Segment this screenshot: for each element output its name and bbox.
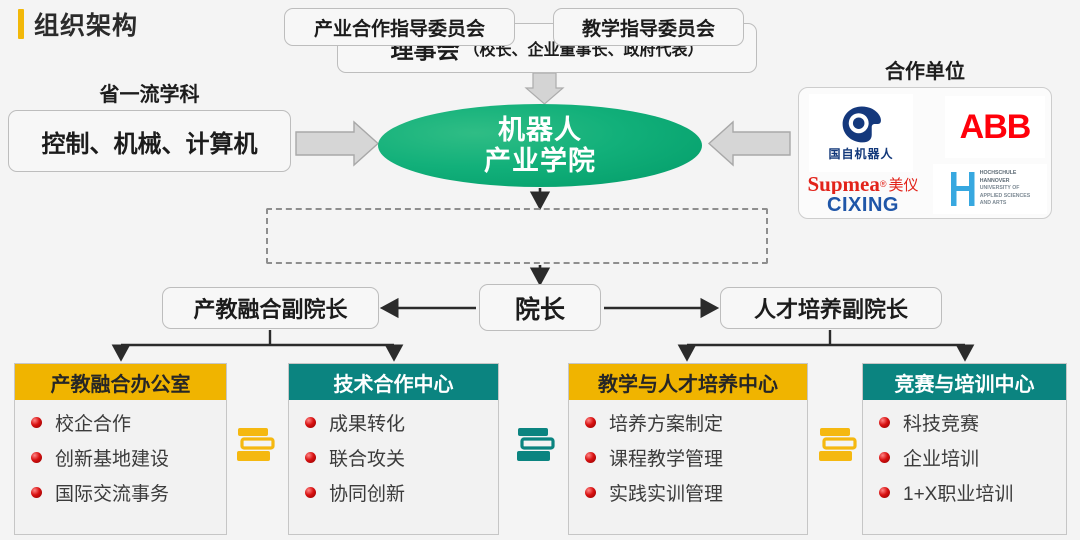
dean-box[interactable]: 院长 bbox=[479, 284, 601, 331]
committee-1-label: 产业合作指导委员会 bbox=[314, 14, 485, 41]
hub-line-2: 产业学院 bbox=[484, 146, 596, 176]
guozi-robot-logo-text: 国自机器人 bbox=[828, 145, 893, 162]
card-teaching-talent-center[interactable]: 教学与人才培养中心 培养方案制定 课程教学管理 实践实训管理 bbox=[568, 363, 808, 535]
bullet-icon bbox=[585, 487, 596, 498]
card-1-list: 校企合作 创新基地建设 国际交流事务 bbox=[15, 400, 226, 534]
partners-panel: 国自机器人 ABB Supmea®美仪 CIXING HOCHSCHULE HA… bbox=[798, 87, 1052, 219]
list-item[interactable]: 国际交流事务 bbox=[31, 479, 226, 506]
committee-2-label: 教学指导委员会 bbox=[582, 14, 715, 41]
card-2-item-1: 成果转化 bbox=[329, 409, 405, 436]
bullet-icon bbox=[879, 487, 890, 498]
supmea-logo-cn: 美仪 bbox=[888, 174, 918, 194]
card-3-item-3: 实践实训管理 bbox=[609, 479, 723, 506]
list-item[interactable]: 创新基地建设 bbox=[31, 444, 226, 471]
card-3-item-1: 培养方案制定 bbox=[609, 409, 723, 436]
card-3-item-2: 课程教学管理 bbox=[609, 444, 723, 471]
hub-robot-industry-college[interactable]: 机器人 产业学院 bbox=[378, 104, 702, 187]
title-accent-bar bbox=[18, 9, 24, 39]
list-item[interactable]: 培养方案制定 bbox=[585, 409, 807, 436]
abb-logo: ABB bbox=[945, 96, 1045, 158]
bullet-icon bbox=[585, 452, 596, 463]
card-4-title: 竞赛与培训中心 bbox=[863, 364, 1066, 400]
hub-line-1: 机器人 bbox=[498, 115, 582, 145]
organization-chart-slide: 组织架构 bbox=[0, 0, 1080, 540]
card-1-item-1: 校企合作 bbox=[55, 409, 131, 436]
discipline-box-text: 控制、机械、计算机 bbox=[42, 124, 258, 159]
page-title-text: 组织架构 bbox=[34, 6, 138, 42]
book-stack-icon bbox=[817, 425, 861, 471]
guozi-robot-logo: 国自机器人 bbox=[809, 94, 913, 172]
card-competition-training-center[interactable]: 竞赛与培训中心 科技竞赛 企业培训 1+X职业培训 bbox=[862, 363, 1067, 535]
bullet-icon bbox=[31, 417, 42, 428]
discipline-label: 省一流学科 bbox=[8, 78, 291, 107]
book-stack-icon bbox=[515, 425, 559, 471]
list-item[interactable]: 成果转化 bbox=[305, 409, 498, 436]
bullet-icon bbox=[879, 417, 890, 428]
hsh-line-5: AND ARTS bbox=[980, 200, 1030, 208]
partners-label: 合作单位 bbox=[798, 55, 1052, 84]
discipline-box[interactable]: 控制、机械、计算机 bbox=[8, 110, 291, 172]
list-item[interactable]: 企业培训 bbox=[879, 444, 1066, 471]
list-item[interactable]: 科技竞赛 bbox=[879, 409, 1066, 436]
list-item[interactable]: 1+X职业培训 bbox=[879, 479, 1066, 506]
card-industry-education-office[interactable]: 产教融合办公室 校企合作 创新基地建设 国际交流事务 bbox=[14, 363, 227, 535]
hochschule-hannover-logo: HOCHSCHULE HANNOVER UNIVERSITY OF APPLIE… bbox=[933, 164, 1047, 214]
cixing-logo-text: CIXING bbox=[827, 196, 899, 214]
cixing-logo: CIXING bbox=[807, 196, 919, 214]
supmea-logo: Supmea®美仪 bbox=[803, 174, 923, 194]
bullet-icon bbox=[31, 487, 42, 498]
supmea-logo-text: Supmea bbox=[807, 174, 879, 194]
vice-dean-right-label: 人才培养副院长 bbox=[754, 292, 908, 324]
card-3-list: 培养方案制定 课程教学管理 实践实训管理 bbox=[569, 400, 807, 534]
bullet-icon bbox=[305, 487, 316, 498]
list-item[interactable]: 课程教学管理 bbox=[585, 444, 807, 471]
bullet-icon bbox=[305, 452, 316, 463]
hsh-line-1: HOCHSCHULE bbox=[980, 170, 1030, 178]
card-4-item-3: 1+X职业培训 bbox=[903, 479, 1013, 506]
supmea-registered-mark: ® bbox=[880, 179, 887, 189]
card-4-item-1: 科技竞赛 bbox=[903, 409, 979, 436]
bullet-icon bbox=[31, 452, 42, 463]
list-item[interactable]: 校企合作 bbox=[31, 409, 226, 436]
card-technology-cooperation-center[interactable]: 技术合作中心 成果转化 联合攻关 协同创新 bbox=[288, 363, 499, 535]
card-1-item-2: 创新基地建设 bbox=[55, 444, 169, 471]
card-1-title: 产教融合办公室 bbox=[15, 364, 226, 400]
abb-logo-text: ABB bbox=[960, 108, 1031, 147]
book-stack-icon bbox=[235, 425, 279, 471]
card-2-list: 成果转化 联合攻关 协同创新 bbox=[289, 400, 498, 534]
committee-industry-cooperation[interactable]: 产业合作指导委员会 bbox=[284, 8, 515, 46]
vice-dean-industry-education[interactable]: 产教融合副院长 bbox=[162, 287, 379, 329]
hsh-line-4: APPLIED SCIENCES bbox=[980, 193, 1030, 201]
bullet-icon bbox=[305, 417, 316, 428]
committee-group bbox=[266, 208, 768, 264]
bullet-icon bbox=[879, 452, 890, 463]
card-2-item-2: 联合攻关 bbox=[329, 444, 405, 471]
list-item[interactable]: 协同创新 bbox=[305, 479, 498, 506]
hochschule-h-mark bbox=[950, 169, 976, 209]
hsh-line-2: HANNOVER bbox=[980, 178, 1030, 186]
hsh-line-3: UNIVERSITY OF bbox=[980, 185, 1030, 193]
card-2-title: 技术合作中心 bbox=[289, 364, 498, 400]
vice-dean-talent-cultivation[interactable]: 人才培养副院长 bbox=[720, 287, 942, 329]
dean-label: 院长 bbox=[515, 290, 565, 326]
list-item[interactable]: 联合攻关 bbox=[305, 444, 498, 471]
list-item[interactable]: 实践实训管理 bbox=[585, 479, 807, 506]
vice-dean-left-label: 产教融合副院长 bbox=[193, 292, 347, 324]
card-4-list: 科技竞赛 企业培训 1+X职业培训 bbox=[863, 400, 1066, 534]
card-2-item-3: 协同创新 bbox=[329, 479, 405, 506]
guozi-robot-mark bbox=[838, 104, 884, 144]
card-4-item-2: 企业培训 bbox=[903, 444, 979, 471]
card-1-item-3: 国际交流事务 bbox=[55, 479, 169, 506]
bullet-icon bbox=[585, 417, 596, 428]
page-title: 组织架构 bbox=[18, 6, 138, 42]
card-3-title: 教学与人才培养中心 bbox=[569, 364, 807, 400]
committee-teaching-guidance[interactable]: 教学指导委员会 bbox=[553, 8, 744, 46]
